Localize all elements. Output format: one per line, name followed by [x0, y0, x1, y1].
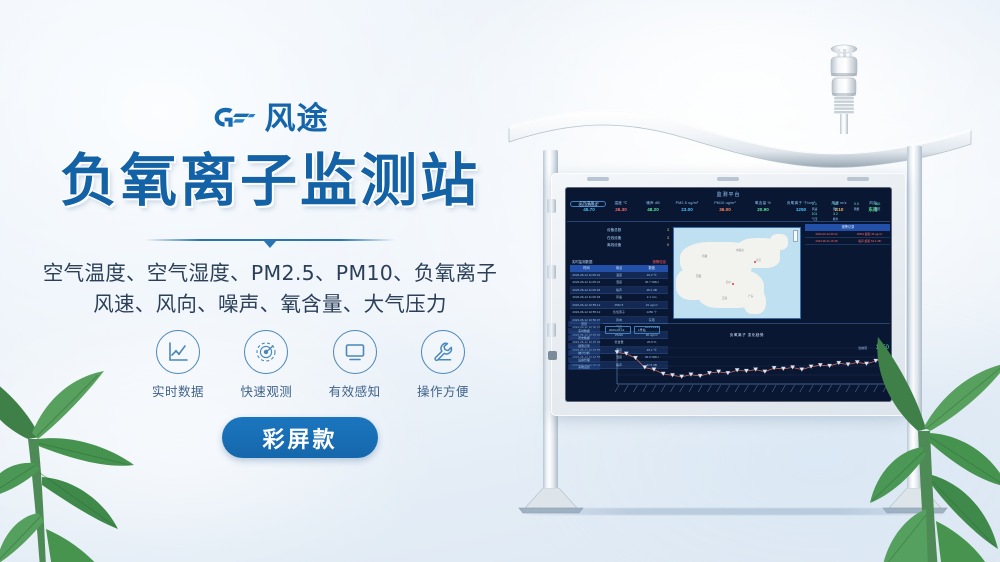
brand-name: 风途 [265, 104, 329, 135]
sidebar-item-settings[interactable]: 系统设置 [568, 364, 600, 370]
device-stats: 设备总数 3 在线设备 3 离线设备 0 [607, 227, 669, 250]
stat-value: 3 [667, 227, 669, 235]
mini-label: 气压 [812, 217, 818, 221]
feature-icon-ring [333, 330, 377, 374]
sensor-mini-grid: 2.1 风速 SE 风向 0.0 雨量 [805, 202, 890, 222]
feature-icon-ring [244, 330, 288, 374]
sidebar-item-devices[interactable]: 设备管理 [568, 357, 600, 363]
lock-icon[interactable] [548, 351, 557, 360]
map-label: 新疆 [702, 254, 707, 258]
hinge-icon [547, 199, 556, 213]
kpi-value: 36.00 [705, 206, 745, 213]
stat-value: 0 [667, 242, 669, 250]
map-label: 广东 [748, 294, 753, 298]
map-label: 北京 [756, 258, 761, 262]
mini-label: 光照 [875, 207, 881, 211]
promo-banner: 风途 负氧离子监测站 空气温度、空气湿度、PM2.5、PM10、负氧离子 风速、… [0, 0, 1000, 562]
table-cell: 2023-06-12 10:55:12 [570, 302, 603, 309]
table-cell: 2023-06-12 11:05:21 [570, 272, 603, 279]
right-summary-panel: 2.1 风速 SE 风向 0.0 雨量 [805, 202, 890, 245]
feature-item-realtime-data: 实时数据 [143, 330, 213, 400]
feature-label: 实时数据 [143, 381, 213, 400]
ground-shadow [525, 508, 945, 515]
brand-logo: 风途 [0, 104, 540, 135]
station-map[interactable]: 新疆 内蒙古 北京 西藏 四川 广东 云南 [673, 227, 801, 319]
sidebar-item-history[interactable]: 历史数据 [568, 335, 600, 341]
alarm-time: 2023-06-11 16:48 [805, 238, 848, 244]
wind-g-logo-icon [212, 105, 256, 135]
mini-label: 风速 [812, 207, 818, 211]
table-cell: 2023-06-12 11:05:21 [570, 279, 603, 286]
cabinet-tab [847, 177, 869, 181]
map-zoom-icon[interactable] [793, 230, 798, 242]
alarm-text: 噪声 超标 62.4 dB [848, 238, 890, 244]
map-label: 四川 [726, 280, 731, 284]
map-pin[interactable] [754, 261, 756, 263]
table-cell: 23 ug/m³ [635, 302, 668, 309]
table-cell: 噪声 [603, 287, 636, 294]
table-warning-badge: 报警信息 [652, 259, 666, 264]
cabinet-tab [587, 177, 609, 181]
dashboard-screen[interactable]: 监测平台 站点名称选择 空气湿度 % 45.70 温度 ℃ 26.30 噪声 d… [567, 189, 890, 400]
table-cell: 48.2 dB [635, 287, 668, 294]
feature-icon-ring [156, 330, 200, 374]
screen-bezel: 监测平台 站点名称选择 空气湿度 % 45.70 温度 ℃ 26.30 噪声 d… [565, 187, 892, 402]
table-cell: 温度 [603, 272, 636, 279]
feature-icon-ring [421, 330, 465, 374]
feature-item-fast-observation: 快速观测 [231, 330, 301, 400]
kpi-value: 20.90 [743, 206, 783, 213]
trend-line-chart [603, 344, 890, 394]
stat-label: 在线设备 [607, 235, 621, 243]
kpi-card: 氧含量 % 20.90 [743, 201, 783, 214]
page-title: 负氧离子监测站 [0, 150, 540, 214]
alarm-row: 2023-06-12 09:12 PM10 超标 36 ug/m³ [805, 231, 890, 238]
dashboard-sidebar[interactable]: 首页 实时数据 历史数据 报警记录 统计分析 设备管理 系统设置 [568, 321, 600, 371]
sidebar-item-realtime[interactable]: 实时数据 [568, 328, 600, 334]
alarm-time: 2023-06-12 09:12 [805, 231, 848, 237]
mini-cell: 3.2 紫外 [826, 212, 845, 221]
table-row[interactable]: 2023-06-12 10:55:12负氧离子1250 个 [570, 309, 668, 317]
hero-subtitle: 空气温度、空气湿度、PM2.5、PM10、负氧离子 风速、风向、噪声、氧含量、大… [0, 258, 540, 320]
table-title: 实时监测数据 [572, 259, 592, 264]
table-row[interactable]: 2023-06-12 11:05:21湿度45.7 %RH [570, 279, 668, 287]
table-cell: 2023-06-12 11:00:18 [570, 294, 603, 301]
mini-cell: 101 气压 [805, 212, 824, 221]
mini-cell: 2.1 风速 [805, 202, 824, 211]
alarm-text: PM10 超标 36 ug/m³ [848, 231, 890, 237]
stat-row: 离线设备 0 [607, 242, 669, 250]
table-cell: 26.3 ℃ [635, 272, 668, 279]
table-cell: 2023-06-12 11:00:18 [570, 287, 603, 294]
map-label: 内蒙古 [736, 248, 744, 252]
mini-cell: SE 风向 [826, 202, 845, 211]
table-cell: 湿度 [603, 279, 636, 286]
stat-row: 在线设备 3 [607, 235, 669, 243]
divider-triangle-icon [263, 240, 277, 248]
map-label: 西藏 [696, 274, 701, 278]
map-label: 云南 [722, 296, 727, 300]
sidebar-item-analysis[interactable]: 统计分析 [568, 350, 600, 356]
wrench-icon [431, 340, 455, 364]
stat-value: 3 [667, 235, 669, 243]
kpi-card: PM10 ug/m³ 36.00 [705, 201, 745, 214]
hinge-icon [547, 323, 556, 337]
mini-cell: 860 光照 [868, 202, 887, 211]
table-cell: PM2.5 [603, 302, 636, 309]
hinge-icon [547, 265, 556, 279]
table-cell: 风速 [603, 294, 636, 301]
cabinet-tab [717, 177, 739, 181]
table-row[interactable]: 2023-06-12 11:00:18噪声48.2 dB [570, 287, 668, 295]
trend-chart-panel: 2023-06-12 1号站 负氧离子 变化趋势 当前值 1250 [603, 323, 890, 400]
line-chart-icon [166, 340, 190, 364]
table-cell: 45.7 %RH [635, 279, 668, 286]
subtitle-line-2: 风速、风向、噪声、氧含量、大气压力 [0, 289, 540, 320]
feature-label: 操作方便 [408, 381, 478, 400]
hero-text-column: 风途 负氧离子监测站 空气温度、空气湿度、PM2.5、PM10、负氧离子 风速、… [0, 0, 540, 562]
table-row[interactable]: 2023-06-12 11:00:18风速2.1 m/s [570, 294, 668, 302]
curved-canopy-icon [505, 86, 975, 178]
support-pole-right [907, 146, 922, 495]
monitor-icon [343, 340, 367, 364]
table-cell: 2023-06-12 10:55:12 [570, 309, 603, 316]
kpi-card: PM2.5 ug/m³ 23.00 [667, 201, 707, 214]
variant-badge-button[interactable]: 彩屏款 [222, 417, 378, 458]
chart-title: 负氧离子 变化趋势 [603, 333, 890, 338]
stat-row: 设备总数 3 [607, 227, 669, 235]
stat-label: 离线设备 [607, 242, 621, 250]
radar-signal-icon [254, 340, 278, 364]
mini-label: 风向 [833, 207, 839, 211]
mini-label: 紫外 [833, 217, 839, 221]
kpi-value: 23.00 [667, 206, 707, 213]
map-pin[interactable] [732, 283, 734, 285]
divider [145, 236, 395, 250]
subtitle-line-1: 空气温度、空气湿度、PM2.5、PM10、负氧离子 [0, 258, 540, 289]
alarm-header: 报警记录 [805, 224, 890, 231]
mini-label: 雨量 [854, 207, 860, 211]
feature-label: 快速观测 [231, 381, 301, 400]
table-cell: 负氧离子 [603, 309, 636, 316]
feature-list: 实时数据 快速观测 [143, 330, 478, 400]
feature-item-effective-sensing: 有效感知 [320, 330, 390, 400]
sidebar-item-home[interactable]: 首页 [568, 321, 600, 327]
kiosk-product: 监测平台 站点名称选择 空气湿度 % 45.70 温度 ℃ 26.30 噪声 d… [505, 40, 975, 540]
table-cell: 1250 个 [635, 309, 668, 316]
table-row[interactable]: 2023-06-12 11:05:21温度26.3 ℃ [570, 272, 668, 280]
dashboard-title: 监测平台 [567, 191, 890, 198]
display-cabinet: 监测平台 站点名称选择 空气湿度 % 45.70 温度 ℃ 26.30 噪声 d… [551, 173, 906, 416]
stat-label: 设备总数 [607, 227, 621, 235]
feature-label: 有效感知 [320, 381, 390, 400]
mini-cell: 0.0 雨量 [847, 202, 866, 211]
feature-item-easy-operation: 操作方便 [408, 330, 478, 400]
table-cell: 2.1 m/s [635, 294, 668, 301]
alarm-row: 2023-06-11 16:48 噪声 超标 62.4 dB [805, 238, 890, 245]
sidebar-item-alarms[interactable]: 报警记录 [568, 343, 600, 349]
table-row[interactable]: 2023-06-12 10:55:12PM2.523 ug/m³ [570, 302, 668, 310]
